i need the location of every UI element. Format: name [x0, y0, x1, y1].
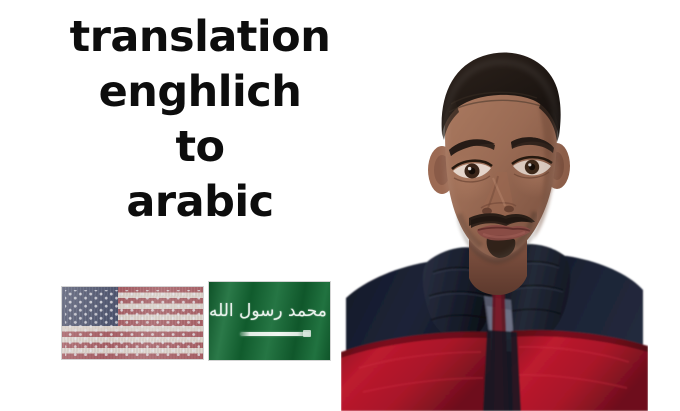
saudi-flag-sword-icon — [240, 332, 310, 336]
page-title: translation enghlich to arabic — [0, 10, 400, 230]
us-flag-fabric-grain — [62, 287, 203, 359]
portrait-illustration — [341, 0, 648, 411]
saudi-arabia-flag: لا إله إلا الله محمد رسول الله — [209, 282, 330, 360]
image-canvas: translation enghlich to arabic لا إله إل… — [0, 0, 680, 411]
saudi-flag-fabric-folds — [209, 282, 330, 360]
headline-line-1: translation — [0, 10, 400, 65]
headline-line-2: enghlich — [0, 65, 400, 120]
saudi-flag-sword-hilt-icon — [303, 330, 311, 337]
saudi-flag-shahada-text: لا إله إلا الله محمد رسول الله — [209, 302, 330, 321]
headline-line-4: arabic — [0, 175, 400, 230]
headline-line-3: to — [0, 120, 400, 175]
man-portrait-photo — [341, 0, 648, 411]
united-states-flag — [62, 287, 203, 359]
